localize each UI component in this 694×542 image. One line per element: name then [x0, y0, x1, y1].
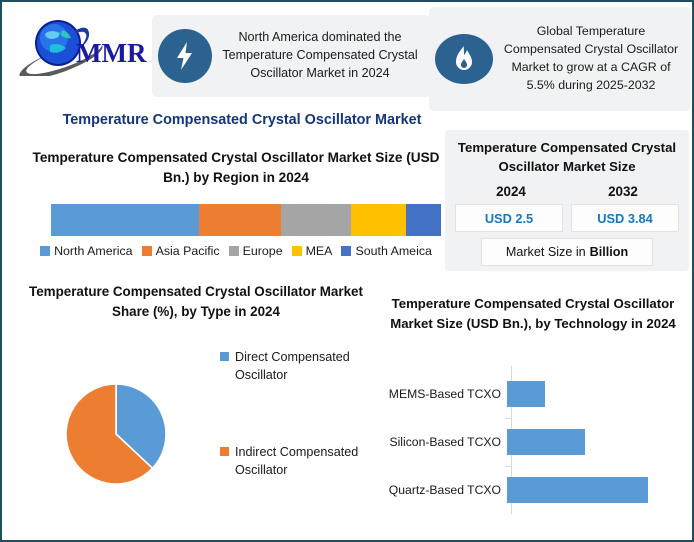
- lightning-bolt-icon: [158, 29, 212, 83]
- market-size-year-row: 2024 2032: [455, 184, 679, 199]
- fact-text-cagr: Global Temperature Compensated Crystal O…: [499, 23, 683, 95]
- unit-prefix-label: Market Size in: [506, 245, 586, 259]
- tech-bar-label: Quartz-Based TCXO: [374, 483, 507, 497]
- fact-card-north-america: North America dominated the Temperature …: [152, 15, 430, 97]
- fact-card-cagr: Global Temperature Compensated Crystal O…: [429, 7, 691, 111]
- region-segment: [51, 204, 199, 236]
- logo-wordmark: MMR: [76, 38, 147, 68]
- legend-label: Indirect Compensated Oscillator: [235, 443, 372, 480]
- axis-tick: [505, 466, 511, 467]
- pie-chart-legend: Direct Compensated OscillatorIndirect Co…: [220, 348, 372, 479]
- market-size-value-row: USD 2.5 USD 3.84: [455, 204, 679, 232]
- legend-swatch-icon: [341, 246, 351, 256]
- pie-chart-title: Temperature Compensated Crystal Oscillat…: [20, 282, 372, 322]
- unit-value-label: Billion: [590, 245, 628, 259]
- region-chart-legend: North AmericaAsia PacificEuropeMEASouth …: [24, 244, 448, 258]
- region-chart-panel: Temperature Compensated Crystal Oscillat…: [24, 144, 448, 269]
- value-start-chip: USD 2.5: [455, 204, 563, 232]
- legend-label: South Ameica: [355, 244, 431, 258]
- legend-swatch-icon: [220, 352, 229, 361]
- legend-swatch-icon: [40, 246, 50, 256]
- market-size-unit-chip: Market Size in Billion: [481, 238, 653, 266]
- tech-bar: [507, 477, 648, 503]
- mmr-logo: MMR: [14, 14, 154, 76]
- page-title: Temperature Compensated Crystal Oscillat…: [32, 112, 452, 128]
- market-size-title: Temperature Compensated Crystal Oscillat…: [455, 138, 679, 176]
- tech-bar-row: Quartz-Based TCXO: [374, 470, 692, 510]
- legend-item: Asia Pacific: [142, 244, 220, 258]
- legend-swatch-icon: [220, 447, 229, 456]
- tech-bar: [507, 381, 545, 407]
- year-end-label: 2032: [567, 184, 679, 199]
- region-stacked-bar: [51, 204, 441, 236]
- region-chart-title: Temperature Compensated Crystal Oscillat…: [24, 148, 448, 189]
- technology-chart-panel: Temperature Compensated Crystal Oscillat…: [374, 294, 692, 529]
- legend-label: Direct Compensated Oscillator: [235, 348, 372, 385]
- globe-icon: MMR: [14, 14, 154, 76]
- region-segment: [199, 204, 281, 236]
- legend-item: South Ameica: [341, 244, 431, 258]
- region-segment: [406, 204, 441, 236]
- legend-item: Europe: [229, 244, 283, 258]
- year-start-label: 2024: [455, 184, 567, 199]
- legend-item: Direct Compensated Oscillator: [220, 348, 372, 385]
- tech-bar-chart: MEMS-Based TCXOSilicon-Based TCXOQuartz-…: [374, 366, 692, 516]
- fact-text-north-america: North America dominated the Temperature …: [218, 29, 422, 83]
- tech-bar: [507, 429, 585, 455]
- tech-chart-title: Temperature Compensated Crystal Oscillat…: [374, 294, 692, 334]
- legend-label: Asia Pacific: [156, 244, 220, 258]
- legend-label: MEA: [306, 244, 333, 258]
- pie-chart-graphic: [64, 382, 168, 491]
- infographic-canvas: MMR North America dominated the Temperat…: [0, 0, 694, 542]
- tech-bar-label: Silicon-Based TCXO: [374, 435, 507, 449]
- legend-item: MEA: [292, 244, 333, 258]
- legend-label: Europe: [243, 244, 283, 258]
- value-end-chip: USD 3.84: [571, 204, 679, 232]
- region-segment: [351, 204, 406, 236]
- region-segment: [281, 204, 351, 236]
- type-share-panel: Temperature Compensated Crystal Oscillat…: [20, 282, 372, 532]
- legend-label: North America: [54, 244, 133, 258]
- legend-swatch-icon: [142, 246, 152, 256]
- tech-bar-row: MEMS-Based TCXO: [374, 374, 692, 414]
- market-size-box: Temperature Compensated Crystal Oscillat…: [445, 130, 689, 271]
- legend-swatch-icon: [292, 246, 302, 256]
- legend-item: Indirect Compensated Oscillator: [220, 443, 372, 480]
- tech-bar-label: MEMS-Based TCXO: [374, 387, 507, 401]
- axis-tick: [505, 418, 511, 419]
- flame-icon: [435, 34, 493, 84]
- tech-bar-row: Silicon-Based TCXO: [374, 422, 692, 462]
- legend-item: North America: [40, 244, 133, 258]
- legend-swatch-icon: [229, 246, 239, 256]
